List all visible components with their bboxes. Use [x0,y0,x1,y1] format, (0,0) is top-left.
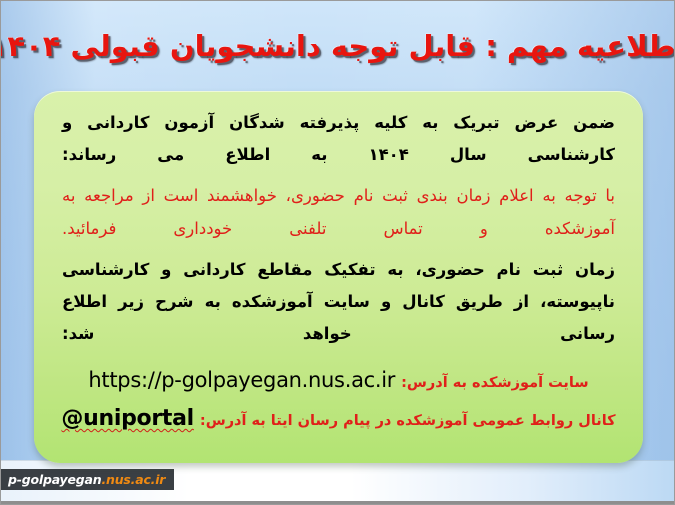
poster-title-bar: اطلاعیه مهم : قابل توجه دانشجویان قبولی … [1,15,674,77]
content-panel: ضمن عرض تبریک به کلیه پذیرفته شدگان آزمو… [34,91,643,463]
footer-badge-tld: .nus.ac.ir [101,472,165,487]
contact-row-website: سایت آموزشکده به آدرس: https://p-golpaye… [66,368,611,392]
paragraph-congratulation: ضمن عرض تبریک به کلیه پذیرفته شدگان آزمو… [56,107,621,171]
eitaa-channel-label: کانال روابط عمومی آموزشکده در پیام رسان … [200,413,616,429]
footer-bar: p-golpayegan.nus.ac.ir [1,460,674,504]
website-label: سایت آموزشکده به آدرس: [401,375,588,391]
website-url[interactable]: https://p-golpayegan.nus.ac.ir [88,368,395,392]
contact-block: سایت آموزشکده به آدرس: https://p-golpaye… [56,368,621,431]
paragraph-schedule-announcement: زمان ثبت نام حضوری، به تفکیک مقاطع کاردا… [56,254,621,351]
paragraph-no-visit-request: با توجه به اعلام زمان بندی ثبت نام حضوری… [56,180,621,244]
eitaa-channel-handle[interactable]: @uniportal [61,406,193,431]
footer-badge-host: p-golpayegan [8,472,101,487]
footer-url-badge[interactable]: p-golpayegan.nus.ac.ir [1,469,174,490]
page-title: اطلاعیه مهم : قابل توجه دانشجویان قبولی … [0,30,675,62]
announcement-poster: اطلاعیه مهم : قابل توجه دانشجویان قبولی … [0,0,675,505]
contact-row-eitaa-channel: کانال روابط عمومی آموزشکده در پیام رسان … [66,406,611,431]
